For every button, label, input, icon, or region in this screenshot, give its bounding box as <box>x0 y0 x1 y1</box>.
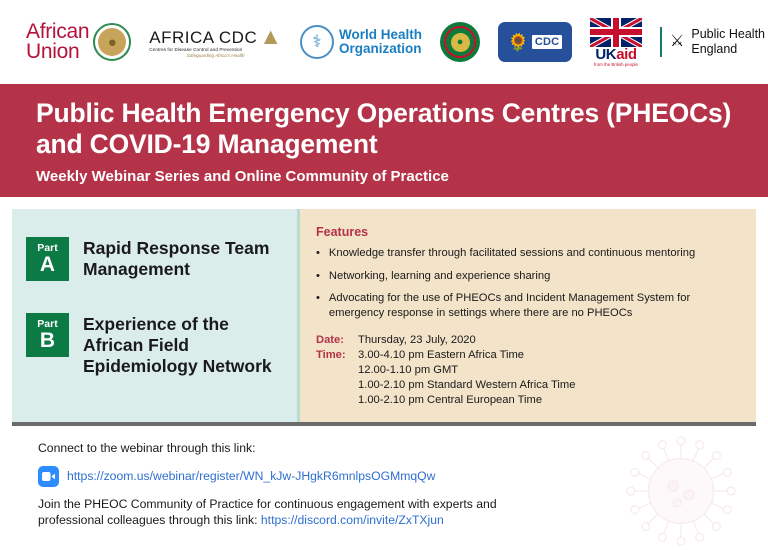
time-value: 1.00-2.10 pm Standard Western Africa Tim… <box>358 378 575 393</box>
date-row: Date: Thursday, 23 July, 2020 <box>316 333 742 348</box>
part-b-title: Experience of the African Field Epidemio… <box>83 313 287 377</box>
content-panels: Part A Rapid Response Team Management Pa… <box>12 209 756 426</box>
royal-crown-icon: ⚔ <box>670 34 684 50</box>
who-line1: World Health <box>339 28 422 42</box>
us-cdc-logo: 🌻 CDC <box>498 22 572 62</box>
waho-africa-icon: ● <box>451 33 470 52</box>
parts-panel: Part A Rapid Response Team Management Pa… <box>12 209 300 422</box>
africa-map-icon: ▲ <box>259 26 282 46</box>
discord-invite-link[interactable]: https://discord.com/invite/ZxTXjun <box>261 513 444 527</box>
part-a-badge: Part A <box>26 237 69 281</box>
feature-item-text: Knowledge transfer through facilitated s… <box>329 246 695 261</box>
schedule-block: Date: Thursday, 23 July, 2020 Time: 3.00… <box>316 333 742 408</box>
who-logo: ⚕ World Health Organization <box>300 25 422 59</box>
zoom-link-row[interactable]: https://zoom.us/webinar/register/WN_kJw-… <box>38 466 768 487</box>
features-heading: Features <box>316 225 742 239</box>
part-b-letter: B <box>40 330 55 351</box>
who-line2: Organization <box>339 42 422 56</box>
page-subtitle: Weekly Webinar Series and Online Communi… <box>36 168 768 185</box>
au-seal-inner: ● <box>98 28 126 56</box>
footer-links-section: Connect to the webinar through this link… <box>0 426 768 542</box>
features-list: • Knowledge transfer through facilitated… <box>316 246 742 320</box>
feature-item-text: Networking, learning and experience shar… <box>329 269 550 284</box>
feature-item: • Advocating for the use of PHEOCs and I… <box>316 291 742 320</box>
african-union-logo: African Union ● <box>26 22 131 62</box>
feature-item: • Networking, learning and experience sh… <box>316 269 742 284</box>
community-instruction-line1: Join the PHEOC Community of Practice for… <box>38 496 768 513</box>
us-cdc-badge: 🌻 CDC <box>498 22 572 62</box>
africa-cdc-logo: AFRICA CDC ▲ Centres for Disease Control… <box>149 26 282 58</box>
africa-cdc-title: AFRICA CDC <box>149 29 257 46</box>
waho-seal-icon: ● <box>440 22 480 62</box>
time-value: 3.00-4.10 pm Eastern Africa Time <box>358 348 575 363</box>
bullet-icon: • <box>316 269 320 284</box>
uk-aid-uk: UK <box>595 46 616 63</box>
public-health-england-logo: ⚔ Public Health England <box>660 27 765 57</box>
africa-cdc-tagline: Safeguarding Africa's Health <box>187 53 245 58</box>
us-cdc-wordmark: CDC <box>532 35 562 49</box>
time-value: 12.00-1.10 pm GMT <box>358 363 575 378</box>
time-label: Time: <box>316 348 358 408</box>
time-row: Time: 3.00-4.10 pm Eastern Africa Time 1… <box>316 348 742 408</box>
part-b-row: Part B Experience of the African Field E… <box>26 313 287 377</box>
who-wordmark: World Health Organization <box>339 28 422 56</box>
phe-wordmark: Public Health England <box>691 27 765 57</box>
webinar-flyer: African Union ● AFRICA CDC ▲ Centres for… <box>0 0 768 542</box>
zoom-webinar-link[interactable]: https://zoom.us/webinar/register/WN_kJw-… <box>67 469 435 483</box>
date-label: Date: <box>316 333 358 348</box>
uk-aid-logo: UKaid from the British people <box>590 18 642 67</box>
title-banner: Public Health Emergency Operations Centr… <box>0 84 768 197</box>
feature-item-text: Advocating for the use of PHEOCs and Inc… <box>329 291 742 320</box>
bullet-icon: • <box>316 291 320 320</box>
african-union-wordmark: African Union <box>26 22 89 62</box>
union-jack-icon <box>590 18 642 47</box>
who-emblem-icon: ⚕ <box>300 25 334 59</box>
time-values: 3.00-4.10 pm Eastern Africa Time 12.00-1… <box>358 348 575 408</box>
uk-aid-aid: aid <box>616 46 636 63</box>
uk-aid-wordmark: UKaid <box>595 47 636 62</box>
hhs-eagle-icon: 🌻 <box>508 34 529 51</box>
africa-cdc-row: AFRICA CDC ▲ <box>149 26 282 46</box>
connect-instruction: Connect to the webinar through this link… <box>38 440 768 457</box>
african-union-seal-icon: ● <box>93 23 131 61</box>
part-a-row: Part A Rapid Response Team Management <box>26 237 287 281</box>
ecowas-waho-logo: ● <box>440 22 480 62</box>
uk-aid-subtitle: from the British people <box>594 62 638 67</box>
africa-cdc-subtitle: Centres for Disease Control and Preventi… <box>149 47 242 52</box>
page-title: Public Health Emergency Operations Centr… <box>36 98 768 160</box>
bullet-icon: • <box>316 246 320 261</box>
african-union-line1: African <box>26 22 89 42</box>
africa-map-icon: ● <box>108 35 117 50</box>
part-a-letter: A <box>40 254 55 275</box>
date-value: Thursday, 23 July, 2020 <box>358 333 476 348</box>
features-panel: Features • Knowledge transfer through fa… <box>300 209 756 422</box>
part-a-title: Rapid Response Team Management <box>83 237 287 280</box>
time-value: 1.00-2.10 pm Central European Time <box>358 393 575 408</box>
african-union-line2: Union <box>26 42 89 62</box>
community-instruction-line2: professional colleagues through this lin… <box>38 512 768 529</box>
community-instruction-text: professional colleagues through this lin… <box>38 513 258 527</box>
partner-logo-bar: African Union ● AFRICA CDC ▲ Centres for… <box>0 0 768 84</box>
feature-item: • Knowledge transfer through facilitated… <box>316 246 742 261</box>
zoom-camera-icon <box>38 466 59 487</box>
part-b-badge: Part B <box>26 313 69 357</box>
phe-line1: Public Health <box>691 27 765 42</box>
phe-line2: England <box>691 42 765 57</box>
